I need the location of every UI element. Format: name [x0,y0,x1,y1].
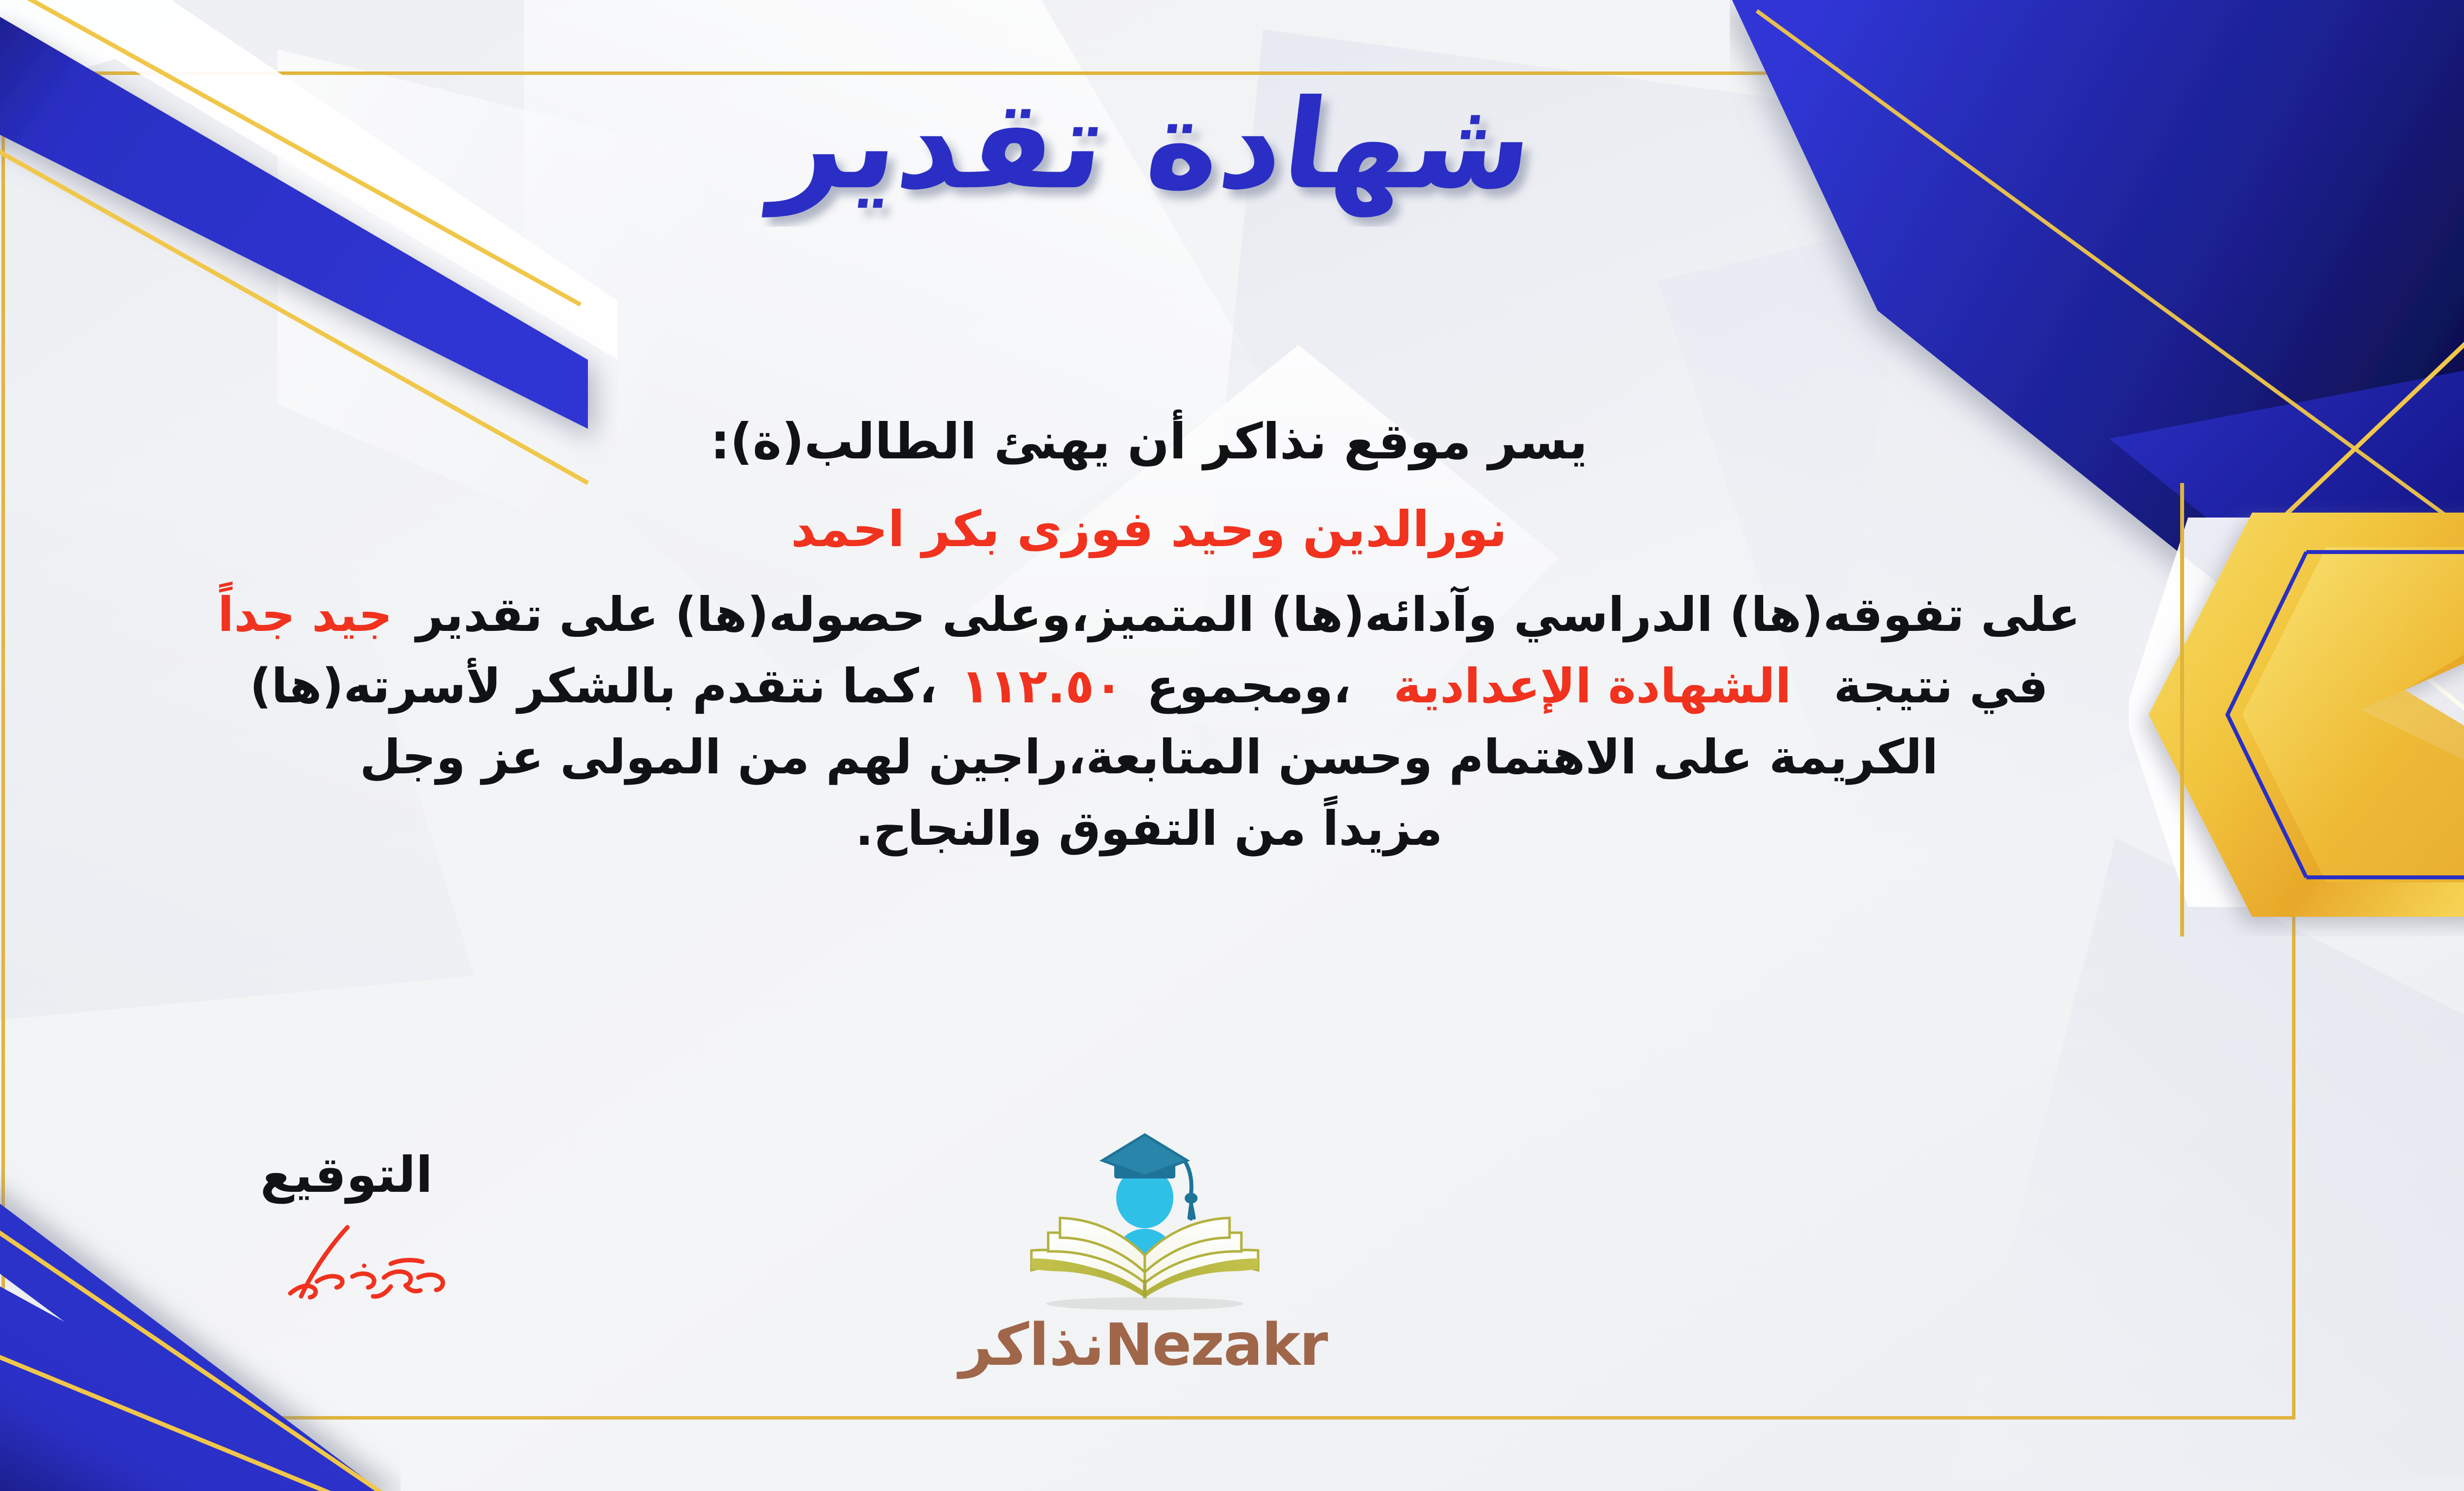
grade-value: جيد جداً [218,587,393,642]
closing-wish-line: مزيداً من التفوق والنجاح. [0,798,2375,860]
signature-mark [208,1218,484,1304]
title-text: شهادة تقدير [761,73,1541,218]
graduate-book-logo-icon [997,1126,1293,1314]
thanks-prefix: ،كما نتقدم بالشكر لأسرته(ها) [250,659,937,714]
handwritten-signature-icon [243,1218,450,1302]
total-score: ١١٢.٥٠ [960,659,1123,714]
certificate-title: شهادة تقدير [0,64,2464,229]
achievement-line: على تفوقه(ها) الدراسي وآدائه(ها) المتميز… [0,584,2375,646]
title-calligraphy: شهادة تقدير [681,64,1617,227]
family-thanks-line: الكريمة على الاهتمام وحسن المتابعة،راجين… [0,726,2375,789]
exam-name: الشهادة الإعدادية [1394,659,1791,714]
exam-result-line: في نتيجةالشهادة الإعدادية،ومجموع١١٢.٥٠،ك… [0,655,2375,718]
intro-line: يسر موقع نذاكر أن يهنئ الطالب(ة): [0,409,2375,474]
logo-wordmark: Nezakrنذاكر [962,1311,1327,1379]
total-label: ،ومجموع [1147,659,1351,714]
certificate-page: شهادة تقدير يسر موقع نذاكر أن يهنئ الطال… [0,0,2464,1491]
achievement-text: على تفوقه(ها) الدراسي وآدائه(ها) المتميز… [416,587,2081,642]
signature-label: التوقيع [208,1146,484,1204]
signature-block: التوقيع [208,1146,484,1304]
result-prefix: في نتيجة [1834,659,2048,714]
certificate-body: يسر موقع نذاكر أن يهنئ الطالب(ة): نورالد… [0,409,2375,860]
site-logo: Nezakrنذاكر [962,1126,1327,1379]
student-name: نورالدين وحيد فوزى بكر احمد [0,497,2375,562]
